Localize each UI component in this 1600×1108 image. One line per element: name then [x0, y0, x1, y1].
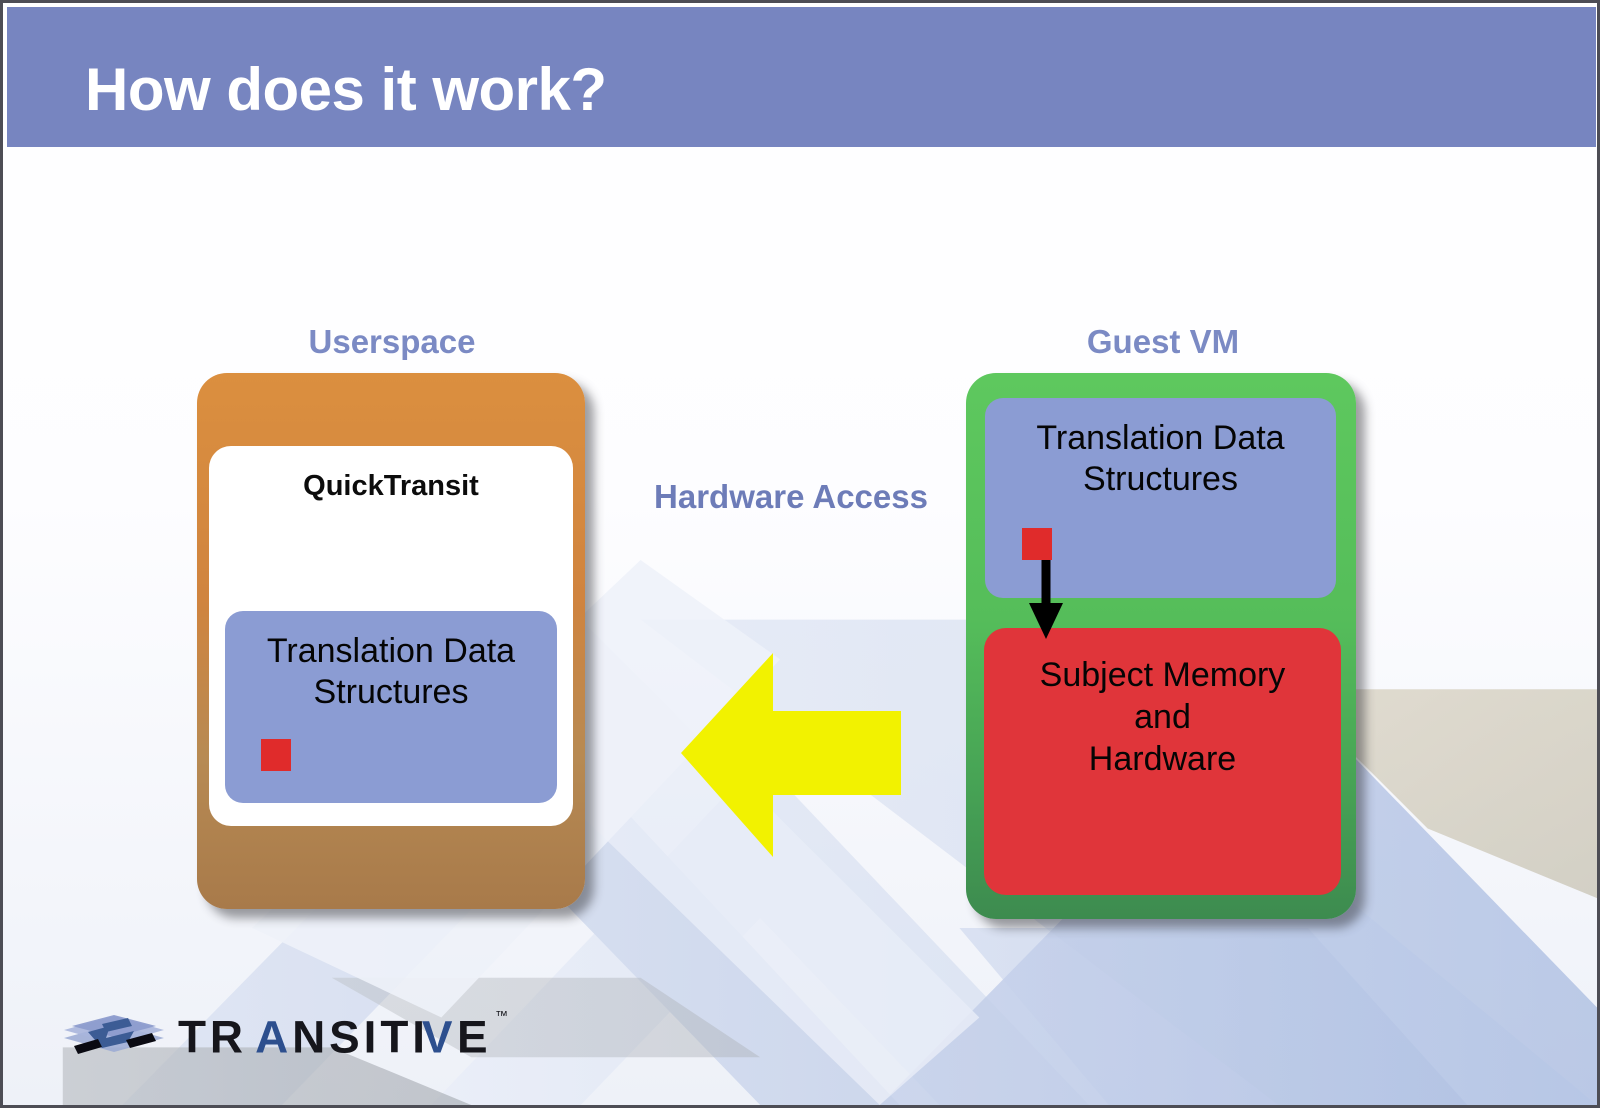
subject-memory-line3: Hardware [1089, 740, 1236, 778]
translation-data-structures-label-right: Translation Data Structures [985, 418, 1336, 500]
tds-right-line2: Structures [1083, 460, 1238, 498]
quicktransit-label: QuickTransit [209, 470, 573, 503]
subject-memory-hardware-box: Subject Memory and Hardware [984, 628, 1341, 895]
svg-text:A: A [255, 1011, 292, 1063]
tds-left-line1: Translation Data [267, 632, 515, 670]
subject-memory-line1: Subject Memory [1040, 656, 1286, 694]
red-marker-icon-right [1022, 528, 1052, 560]
svg-text:NSITI: NSITI [292, 1011, 429, 1063]
logo-trademark: ™ [495, 1008, 508, 1023]
svg-text:TR: TR [178, 1011, 247, 1063]
tds-right-line1: Translation Data [1036, 419, 1284, 457]
quicktransit-panel: QuickTransit Translation Data Structures [209, 446, 573, 826]
red-marker-icon [261, 739, 291, 771]
slide-canvas: How does it work? Userspace QuickTransit… [0, 0, 1600, 1108]
hardware-access-arrow-icon [681, 633, 901, 873]
subject-memory-line2: and [1134, 698, 1191, 736]
hardware-access-label: Hardware Access [621, 478, 961, 516]
userspace-group-label: Userspace [198, 323, 586, 361]
tds-left-line2: Structures [314, 673, 469, 711]
svg-text:V: V [422, 1011, 456, 1063]
page-title: How does it work? [85, 55, 607, 124]
transitive-wordmark-icon: TR A NSITI V E [178, 1006, 500, 1068]
userspace-container: QuickTransit Translation Data Structures [197, 373, 585, 909]
subject-memory-hardware-label: Subject Memory and Hardware [984, 654, 1341, 780]
guest-vm-group-label: Guest VM [968, 323, 1358, 361]
guest-vm-container: Translation Data Structures Subject Memo… [966, 373, 1356, 919]
transitive-logo: TR A NSITI V E ™ [58, 998, 518, 1078]
translation-data-structures-label-left: Translation Data Structures [225, 631, 557, 713]
svg-text:E: E [457, 1011, 492, 1063]
transitive-layers-logo-icon [58, 1004, 170, 1070]
translation-data-structures-box-left: Translation Data Structures [225, 611, 557, 803]
